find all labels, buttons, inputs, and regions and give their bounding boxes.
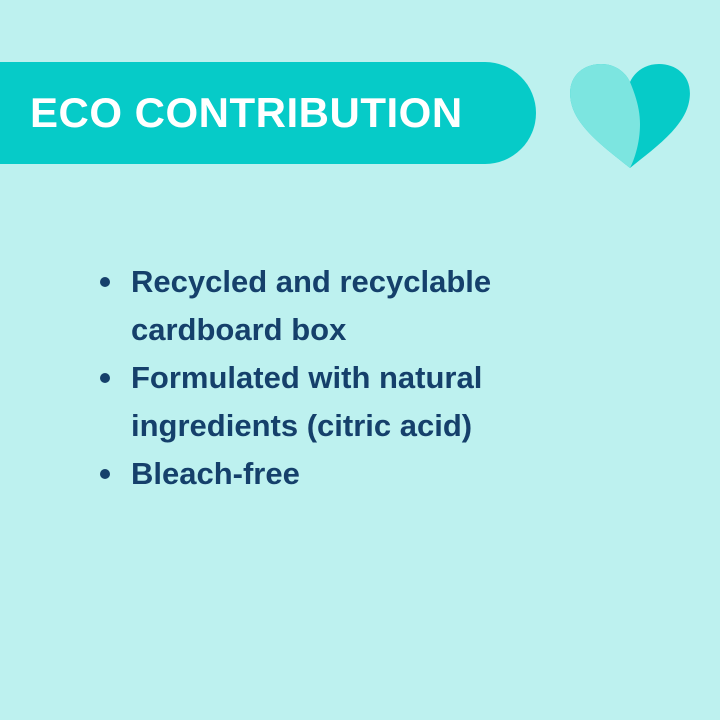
title-banner: ECO CONTRIBUTION (0, 62, 536, 164)
page-title: ECO CONTRIBUTION (30, 92, 463, 134)
heart-left-lobe (570, 64, 640, 168)
eco-benefits-list: Recycled and recyclable cardboard box Fo… (98, 258, 618, 498)
bullet-dot-icon (100, 469, 110, 479)
list-item: Recycled and recyclable cardboard box (98, 258, 561, 354)
eco-contribution-card: ECO CONTRIBUTION Recycled and recyclable… (0, 0, 720, 720)
list-item-label: Bleach-free (131, 456, 300, 491)
header-row: ECO CONTRIBUTION (0, 62, 720, 166)
heart-icon (568, 62, 692, 168)
list-item: Bleach-free (98, 450, 561, 498)
list-item-label: Recycled and recyclable cardboard box (131, 264, 491, 347)
bullet-dot-icon (100, 277, 110, 287)
list-item: Formulated with natural ingredients (cit… (98, 354, 561, 450)
list-item-label: Formulated with natural ingredients (cit… (131, 360, 482, 443)
bullet-dot-icon (100, 373, 110, 383)
